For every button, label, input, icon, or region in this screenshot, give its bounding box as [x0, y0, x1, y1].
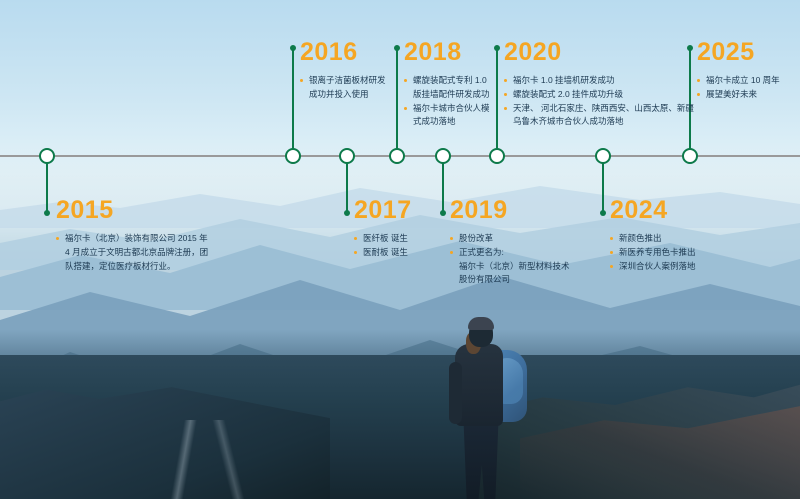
stem-2016: [292, 48, 294, 156]
stem-2024: [602, 158, 604, 213]
hiker-cap: [468, 317, 494, 330]
year-label-2024: 2024: [610, 198, 740, 223]
bullet-item: 福尔卡 1.0 挂墙机研发成功: [504, 74, 694, 88]
year-label-2020: 2020: [504, 40, 694, 65]
bullet-item: 深圳合伙人案例落地: [610, 260, 740, 274]
stem-2017: [346, 158, 348, 213]
node-2015[interactable]: [39, 148, 55, 164]
stem-cap-2017: [344, 210, 350, 216]
node-2017[interactable]: [339, 148, 355, 164]
bullet-list-2017: 医纤板 诞生 医耐板 诞生: [354, 232, 444, 260]
timeline-entry-2016[interactable]: 2016 银离子洁菌板材研发 成功并投入使用: [300, 40, 410, 102]
year-label-2015: 2015: [56, 198, 216, 223]
timeline-infographic: 2016 银离子洁菌板材研发 成功并投入使用 2018 螺旋装配式专利 1.0 …: [0, 0, 800, 499]
bullet-list-2019: 股份改革 正式更名为: 福尔卡（北京）新型材料技术 股份有限公司: [450, 232, 580, 287]
year-label-2018: 2018: [404, 40, 514, 65]
timeline-entry-2018[interactable]: 2018 螺旋装配式专利 1.0 版挂墙配件研发成功 福尔卡城市合伙人模 式成功…: [404, 40, 514, 129]
bullet-item: 福尔卡城市合伙人模 式成功落地: [404, 102, 514, 130]
bullet-list-2025: 福尔卡成立 10 周年 展望美好未来: [697, 74, 797, 102]
year-label-2025: 2025: [697, 40, 797, 65]
bullet-list-2016: 银离子洁菌板材研发 成功并投入使用: [300, 74, 410, 102]
node-2020[interactable]: [489, 148, 505, 164]
hiker-legs: [461, 418, 501, 499]
bullet-item: 医纤板 诞生: [354, 232, 444, 246]
bullet-item: 福尔卡成立 10 周年: [697, 74, 797, 88]
bullet-item: 医耐板 诞生: [354, 246, 444, 260]
timeline-entry-2024[interactable]: 2024 新颜色推出 新医养专用色卡推出 深圳合伙人案例落地: [610, 198, 740, 273]
bullet-item: 福尔卡（北京）装饰有限公司 2015 年 4 月成立于文明古都北京品牌注册，团 …: [56, 232, 216, 273]
bullet-item: 正式更名为: 福尔卡（北京）新型材料技术 股份有限公司: [450, 246, 580, 287]
stem-cap-2016: [290, 45, 296, 51]
timeline-entry-2015[interactable]: 2015 福尔卡（北京）装饰有限公司 2015 年 4 月成立于文明古都北京品牌…: [56, 198, 216, 273]
hiker-silhouette: [437, 310, 547, 499]
hiker-arm: [449, 362, 462, 424]
timeline-entry-2020[interactable]: 2020 福尔卡 1.0 挂墙机研发成功 螺旋装配式 2.0 挂件成功升级 天津…: [504, 40, 694, 129]
stem-cap-2015: [44, 210, 50, 216]
valley-roads: [40, 420, 340, 499]
node-2016[interactable]: [285, 148, 301, 164]
bullet-item: 银离子洁菌板材研发 成功并投入使用: [300, 74, 410, 102]
bullet-item: 螺旋装配式 2.0 挂件成功升级: [504, 88, 694, 102]
bullet-item: 股份改革: [450, 232, 580, 246]
stem-2015: [46, 158, 48, 213]
bullet-item: 新医养专用色卡推出: [610, 246, 740, 260]
bullet-item: 天津、 河北石家庄、陕西西安、山西太原、新疆 乌鲁木齐城市合伙人成功落地: [504, 102, 694, 130]
bullet-list-2015: 福尔卡（北京）装饰有限公司 2015 年 4 月成立于文明古都北京品牌注册，团 …: [56, 232, 216, 273]
hiker-torso: [455, 344, 503, 426]
node-2025[interactable]: [682, 148, 698, 164]
timeline-entry-2025[interactable]: 2025 福尔卡成立 10 周年 展望美好未来: [697, 40, 797, 102]
node-2018[interactable]: [389, 148, 405, 164]
bullet-item: 新颜色推出: [610, 232, 740, 246]
year-label-2016: 2016: [300, 40, 410, 65]
year-label-2019: 2019: [450, 198, 580, 223]
stem-cap-2024: [600, 210, 606, 216]
bullet-item: 展望美好未来: [697, 88, 797, 102]
bullet-list-2020: 福尔卡 1.0 挂墙机研发成功 螺旋装配式 2.0 挂件成功升级 天津、 河北石…: [504, 74, 694, 129]
year-label-2017: 2017: [354, 198, 444, 223]
node-2024[interactable]: [595, 148, 611, 164]
timeline-entry-2017[interactable]: 2017 医纤板 诞生 医耐板 诞生: [354, 198, 444, 260]
bullet-list-2024: 新颜色推出 新医养专用色卡推出 深圳合伙人案例落地: [610, 232, 740, 273]
bullet-list-2018: 螺旋装配式专利 1.0 版挂墙配件研发成功 福尔卡城市合伙人模 式成功落地: [404, 74, 514, 129]
timeline-entry-2019[interactable]: 2019 股份改革 正式更名为: 福尔卡（北京）新型材料技术 股份有限公司: [450, 198, 580, 287]
node-2019[interactable]: [435, 148, 451, 164]
bullet-item: 螺旋装配式专利 1.0 版挂墙配件研发成功: [404, 74, 514, 102]
